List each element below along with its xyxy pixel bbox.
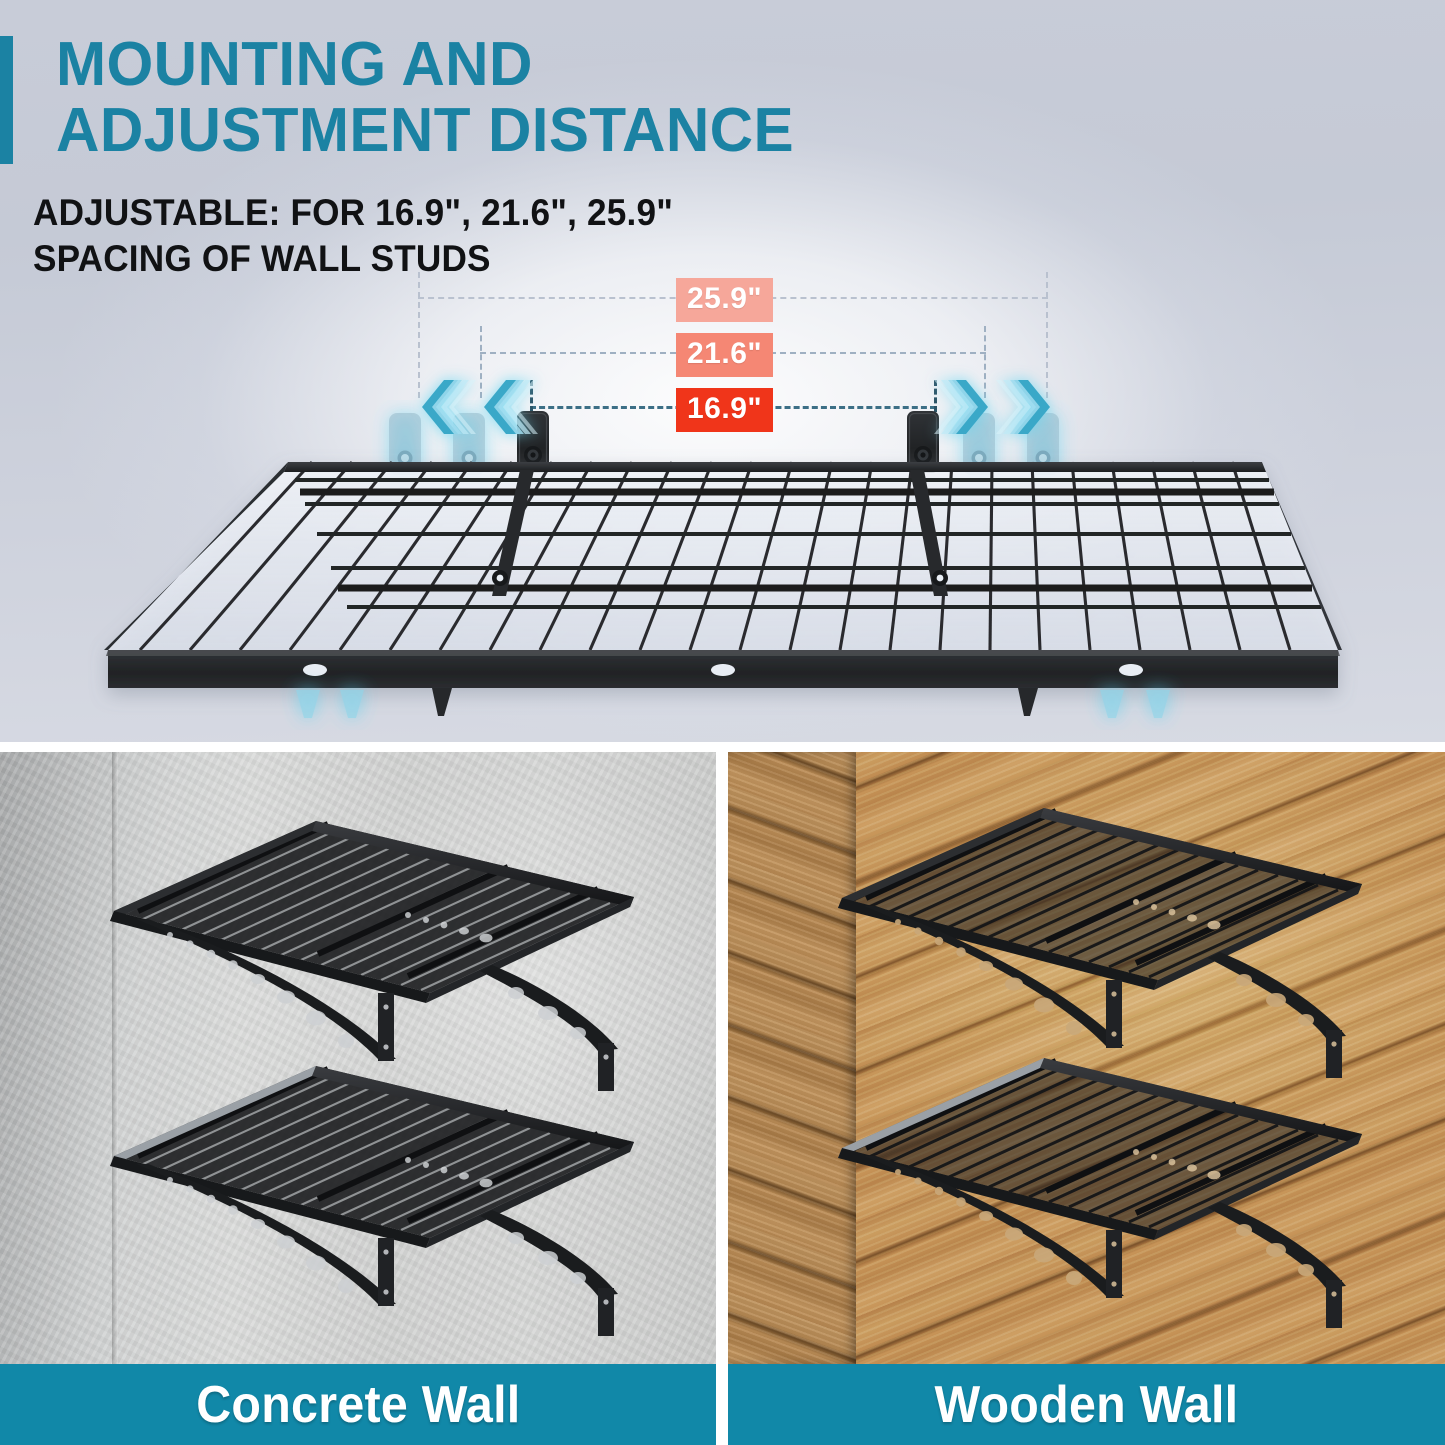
- measure-badge-16: 16.9": [676, 388, 773, 432]
- chevron-left-group-outer: [418, 378, 480, 436]
- mount-hole: [303, 664, 327, 676]
- caption-label: Concrete Wall: [196, 1377, 520, 1433]
- concrete-wall-caption: Concrete Wall: [0, 1364, 716, 1445]
- chevron-right-group-inner: [930, 378, 992, 436]
- wooden-wall-caption: Wooden Wall: [728, 1364, 1445, 1445]
- mounted-shelf-lower: [806, 1044, 1406, 1334]
- slide-glow-right: [1100, 690, 1170, 718]
- chevron-left-group-inner: [480, 378, 542, 436]
- chevron-left-icon: [480, 378, 542, 436]
- wire-grid-shelf: [0, 400, 1445, 730]
- chevron-right-group-outer: [992, 378, 1054, 436]
- mounted-shelf-lower: [78, 1052, 678, 1342]
- wooden-wall-photo: [728, 752, 1445, 1364]
- shelf-support-tabs: [432, 688, 1038, 716]
- concrete-wall-panel: Concrete Wall: [0, 752, 716, 1445]
- measure-badge-21: 21.6": [676, 333, 773, 377]
- application-photos: Concrete Wall: [0, 752, 1445, 1445]
- page-title: MOUNTING AND ADJUSTMENT DISTANCE: [56, 32, 1116, 164]
- wooden-wall-panel: Wooden Wall: [728, 752, 1445, 1445]
- title-line-1: MOUNTING AND: [56, 32, 1084, 98]
- panel-divider: [716, 752, 728, 1445]
- chevron-right-icon: [992, 378, 1054, 436]
- shelf-back-rail: [284, 462, 1266, 472]
- diagram-panel: MOUNTING AND ADJUSTMENT DISTANCE ADJUSTA…: [0, 0, 1445, 742]
- title-line-2: ADJUSTMENT DISTANCE: [56, 98, 1084, 164]
- mount-hole: [1119, 664, 1143, 676]
- measure-badge-25: 25.9": [676, 278, 773, 322]
- title-accent-bar: [0, 36, 13, 164]
- shelf-deck: [104, 462, 1342, 688]
- chevron-right-icon: [930, 378, 992, 436]
- chevron-left-icon: [418, 378, 480, 436]
- mounted-shelf-upper: [806, 794, 1406, 1084]
- slide-glow-left: [296, 690, 364, 718]
- subtitle-line-1: ADJUSTABLE: FOR 16.9", 21.6", 25.9": [33, 190, 983, 236]
- mount-hole: [711, 664, 735, 676]
- caption-label: Wooden Wall: [935, 1377, 1239, 1433]
- concrete-wall-photo: [0, 752, 716, 1364]
